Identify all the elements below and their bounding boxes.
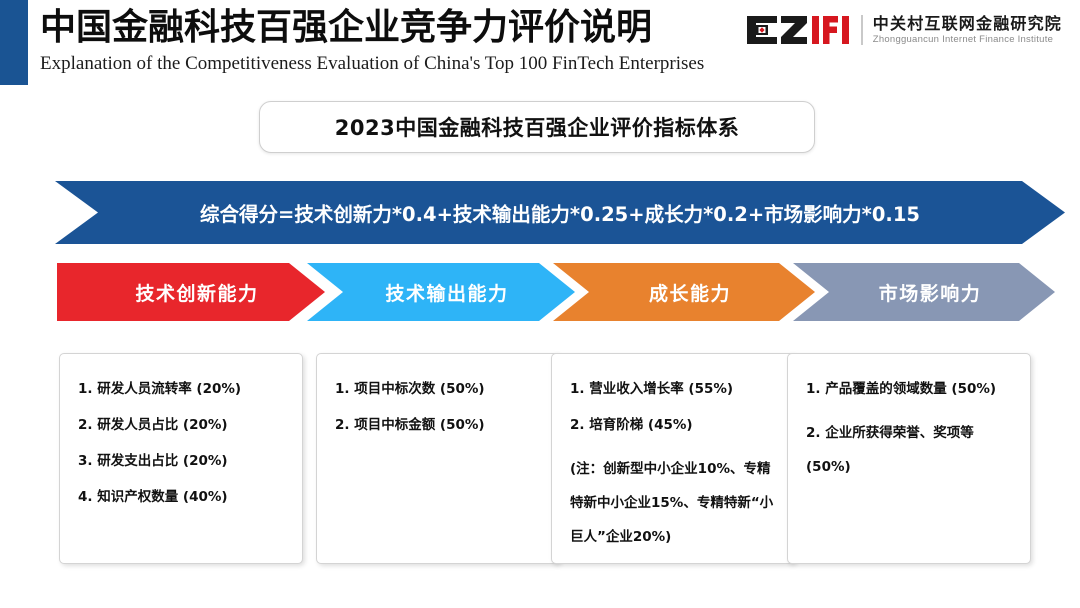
chevron-tech-innovation[interactable]: 技术创新能力 xyxy=(57,263,325,321)
page-subtitle: Explanation of the Competitiveness Evalu… xyxy=(40,51,704,77)
indicator-item: 3. 研发支出占比 (20%) xyxy=(78,452,288,471)
indicator-box-tech-output: 1. 项目中标次数 (50%) 2. 项目中标金额 (50%) xyxy=(316,353,560,564)
chevron-label-3: 市场影响力 xyxy=(867,279,982,306)
slide-header: 中国金融科技百强企业竞争力评价说明 Explanation of the Com… xyxy=(0,0,1080,92)
indicator-item: 4. 知识产权数量 (40%) xyxy=(78,488,288,507)
indicator-detail-boxes: 1. 研发人员流转率 (20%) 2. 研发人员占比 (20%) 3. 研发支出… xyxy=(0,353,1080,568)
indicator-item: 2. 研发人员占比 (20%) xyxy=(78,416,288,435)
score-formula-text: 综合得分=技术创新力*0.4+技术输出能力*0.25+成长力*0.2+市场影响力… xyxy=(200,198,920,227)
indicator-item: 1. 营业收入增长率 (55%) xyxy=(570,380,780,399)
indicator-box-market-influence: 1. 产品覆盖的领域数量 (50%) 2. 企业所获得荣誉、奖项等 (50%) xyxy=(787,353,1031,564)
indicator-item: 2. 企业所获得荣誉、奖项等 (50%) xyxy=(806,416,1016,484)
logo-text-block: 中关村互联网金融研究院 Zhongguancun Internet Financ… xyxy=(873,14,1062,46)
header-title-group: 中国金融科技百强企业竞争力评价说明 Explanation of the Com… xyxy=(40,6,704,77)
indicator-system-title-text: 2023中国金融科技百强企业评价指标体系 xyxy=(335,112,739,142)
header-accent-bar xyxy=(0,0,28,85)
indicator-note: (注：创新型中小企业10%、专精特新中小企业15%、专精特新“小巨人”企业20%… xyxy=(570,452,780,554)
chevron-label-0: 技术创新能力 xyxy=(123,279,258,306)
indicator-item: 2. 项目中标金额 (50%) xyxy=(335,416,545,435)
indicator-item: 2. 培育阶梯 (45%) xyxy=(570,416,780,435)
chevron-tech-output[interactable]: 技术输出能力 xyxy=(307,263,575,321)
czifi-logo: 中关村互联网金融研究院 Zhongguancun Internet Financ… xyxy=(747,9,1062,51)
chevron-label-2: 成长能力 xyxy=(637,279,731,306)
chevron-market-influence[interactable]: 市场影响力 xyxy=(793,263,1055,321)
indicator-item: 1. 产品覆盖的领域数量 (50%) xyxy=(806,380,1016,399)
score-formula-banner: 综合得分=技术创新力*0.4+技术输出能力*0.25+成长力*0.2+市场影响力… xyxy=(55,181,1065,244)
dimension-chevron-row: 技术创新能力 技术输出能力 成长能力 市场影响力 xyxy=(0,263,1080,321)
chevron-growth[interactable]: 成长能力 xyxy=(553,263,815,321)
indicator-item: 1. 研发人员流转率 (20%) xyxy=(78,380,288,399)
czifi-logo-mark xyxy=(747,13,851,47)
page-title: 中国金融科技百强企业竞争力评价说明 xyxy=(40,6,704,50)
chevron-label-1: 技术输出能力 xyxy=(373,279,508,306)
logo-divider xyxy=(861,15,863,45)
indicator-box-growth: 1. 营业收入增长率 (55%) 2. 培育阶梯 (45%) (注：创新型中小企… xyxy=(551,353,795,564)
indicator-box-tech-innovation: 1. 研发人员流转率 (20%) 2. 研发人员占比 (20%) 3. 研发支出… xyxy=(59,353,303,564)
logo-name-en: Zhongguancun Internet Finance Institute xyxy=(873,33,1062,46)
indicator-system-title-box: 2023中国金融科技百强企业评价指标体系 xyxy=(259,101,815,153)
indicator-item: 1. 项目中标次数 (50%) xyxy=(335,380,545,399)
logo-name-cn: 中关村互联网金融研究院 xyxy=(873,14,1062,33)
